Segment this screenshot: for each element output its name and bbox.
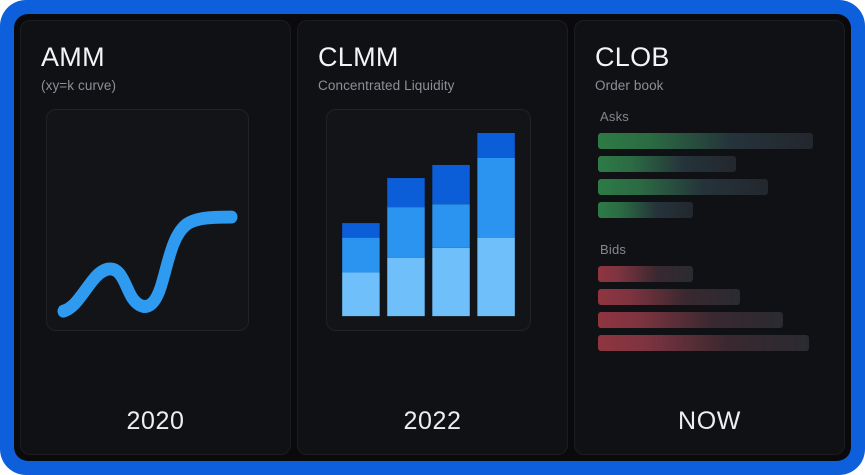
order-book-row[interactable] [598,312,783,328]
clmm-bar-chart [327,110,530,330]
bids-label: Bids [600,242,813,257]
panels-container: AMM (xy=k curve) 2020 CLMM Concentrated … [14,14,851,461]
clmm-year-label: 2022 [403,407,461,436]
order-book-row[interactable] [598,133,813,149]
panel-amm[interactable]: AMM (xy=k curve) 2020 [20,20,291,455]
panel-subtitle-clob: Order book [595,78,824,93]
clmm-chart-card [326,109,531,331]
panel-title-amm: AMM [41,43,270,71]
clmm-visual [318,109,547,388]
panel-subtitle-clmm: Concentrated Liquidity [318,78,547,93]
clob-visual: Asks Bids [595,109,824,388]
order-book-row[interactable] [598,266,693,282]
bar-segment [387,258,424,316]
bar-segment [342,238,379,273]
order-book-row[interactable] [598,202,693,218]
panel-subtitle-amm: (xy=k curve) [41,78,270,93]
order-book-row[interactable] [598,179,768,195]
clmm-footer: 2022 [318,388,547,454]
bar-segment [387,178,424,207]
bar-segment [432,205,469,249]
panel-clmm[interactable]: CLMM Concentrated Liquidity 2022 [297,20,568,455]
order-book-row[interactable] [598,156,736,172]
amm-footer: 2020 [41,388,270,454]
bid-rows [598,266,813,351]
order-book: Asks Bids [598,109,813,388]
bar-segment [342,273,379,317]
amm-curve-chart [47,110,248,330]
panel-title-clmm: CLMM [318,43,547,71]
bar-segment [477,133,514,158]
clob-year-label: NOW [678,407,741,436]
bar-segment [477,158,514,238]
clob-footer: NOW [595,388,824,454]
order-book-row[interactable] [598,335,809,351]
ask-rows [598,133,813,218]
amm-year-label: 2020 [126,407,184,436]
bar-segment [477,238,514,316]
panel-title-clob: CLOB [595,43,824,71]
blue-frame: AMM (xy=k curve) 2020 CLMM Concentrated … [0,0,865,475]
bar-segment [432,165,469,204]
order-book-row[interactable] [598,289,740,305]
asks-label: Asks [600,109,813,124]
amm-chart-card [46,109,249,331]
bar-segment [432,248,469,316]
amm-visual [41,109,270,388]
panel-clob[interactable]: CLOB Order book Asks Bids NOW [574,20,845,455]
bar-segment [387,207,424,258]
bar-segment [342,223,379,238]
